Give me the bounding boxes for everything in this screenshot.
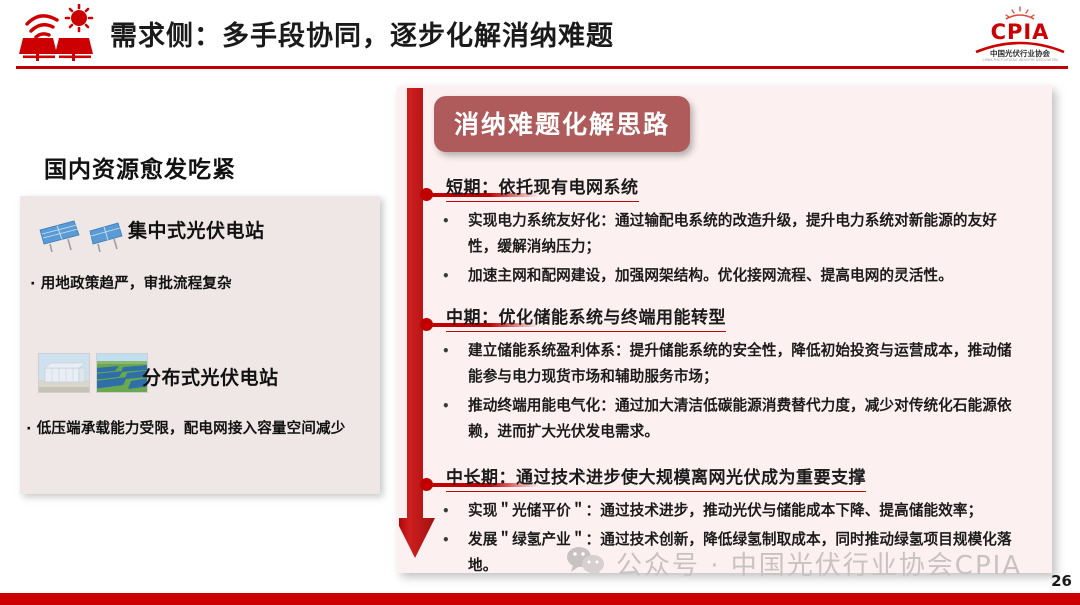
right-panel-badge: 消纳难题化解思路 bbox=[434, 96, 690, 152]
section-bullets: 实现电力系统友好化：通过输配电系统的改造升级，提升电力系统对新能源的友好性，缓解… bbox=[436, 208, 1026, 289]
footer-bar bbox=[0, 593, 1080, 605]
left-group-bullet: ·用地政策趋严，审批流程复杂 bbox=[30, 272, 375, 293]
left-content-panel: 集中式光伏电站 ·用地政策趋严，审批流程复杂 bbox=[20, 196, 380, 494]
bullet-item: 建立储能系统盈利体系：提升储能系统的安全性，降低初始投资与运营成本，推动储能参与… bbox=[436, 338, 1026, 390]
bullet-item: 实现电力系统友好化：通过输配电系统的改造升级，提升电力系统对新能源的友好性，缓解… bbox=[436, 208, 1026, 260]
svg-text:CHINA PHOTOVOLTAIC INDUSTRY AS: CHINA PHOTOVOLTAIC INDUSTRY ASSOCIATION bbox=[982, 58, 1058, 62]
distributed-solar-photos-icon bbox=[38, 351, 150, 395]
header-divider bbox=[16, 66, 1068, 69]
bullet-marker: · bbox=[30, 276, 36, 292]
left-group-heading: 分布式光伏电站 bbox=[142, 363, 279, 390]
section-heading: 短期：依托现有电网系统 bbox=[446, 173, 639, 202]
bullet-item: 加速主网和配网建设，加强网架结构。优化接网流程、提高电网的灵活性。 bbox=[436, 263, 1026, 289]
page-number: 26 bbox=[1051, 572, 1072, 590]
cpia-logo: CPIA 中国光伏行业协会 CHINA PHOTOVOLTAIC INDUSTR… bbox=[972, 6, 1068, 62]
svg-text:中国光伏行业协会: 中国光伏行业协会 bbox=[990, 48, 1050, 58]
slide-header: 需求侧：多手段协同，逐步化解消纳难题 CPIA 中国光伏行业协会 CHINA P… bbox=[0, 0, 1080, 72]
industrial-building-photo bbox=[38, 353, 90, 393]
centralized-solar-array-icon bbox=[38, 210, 134, 254]
left-section-title: 国内资源愈发吃紧 bbox=[44, 150, 236, 184]
solar-farm-photo bbox=[96, 353, 148, 393]
left-group-heading: 集中式光伏电站 bbox=[128, 216, 265, 243]
left-group-bullet: ·低压端承载能力受限，配电网接入容量空间减少 bbox=[26, 417, 371, 438]
bullet-item: 实现＂光储平价＂：通过技术进步，推动光伏与储能成本下降、提高储能效率； bbox=[436, 498, 1031, 524]
svg-text:CPIA: CPIA bbox=[991, 20, 1050, 44]
bullet-marker: · bbox=[26, 421, 32, 437]
solar-panel-signal-sun-icon bbox=[17, 4, 101, 62]
section-heading: 中长期：通过技术进步使大规模离网光伏成为重要支撑 bbox=[446, 463, 866, 492]
section-bullets: 建立储能系统盈利体系：提升储能系统的安全性，降低初始投资与运营成本，推动储能参与… bbox=[436, 338, 1026, 445]
bullet-text: 用地政策趋严，审批流程复杂 bbox=[41, 276, 232, 292]
page-title: 需求侧：多手段协同，逐步化解消纳难题 bbox=[110, 14, 614, 53]
bullet-text: 低压端承载能力受限，配电网接入容量空间减少 bbox=[37, 421, 346, 437]
bullet-item: 发展＂绿氢产业＂：通过技术创新，降低绿氢制取成本，同时推动绿氢项目规模化落地。 bbox=[436, 527, 1031, 579]
section-heading: 中期：优化储能系统与终端用能转型 bbox=[446, 303, 726, 332]
slide-root: 需求侧：多手段协同，逐步化解消纳难题 CPIA 中国光伏行业协会 CHINA P… bbox=[0, 0, 1080, 605]
bullet-item: 推动终端用能电气化：通过加大清洁低碳能源消费替代力度，减少对传统化石能源依赖，进… bbox=[436, 393, 1026, 445]
section-bullets: 实现＂光储平价＂：通过技术进步，推动光伏与储能成本下降、提高储能效率； 发展＂绿… bbox=[436, 498, 1031, 579]
